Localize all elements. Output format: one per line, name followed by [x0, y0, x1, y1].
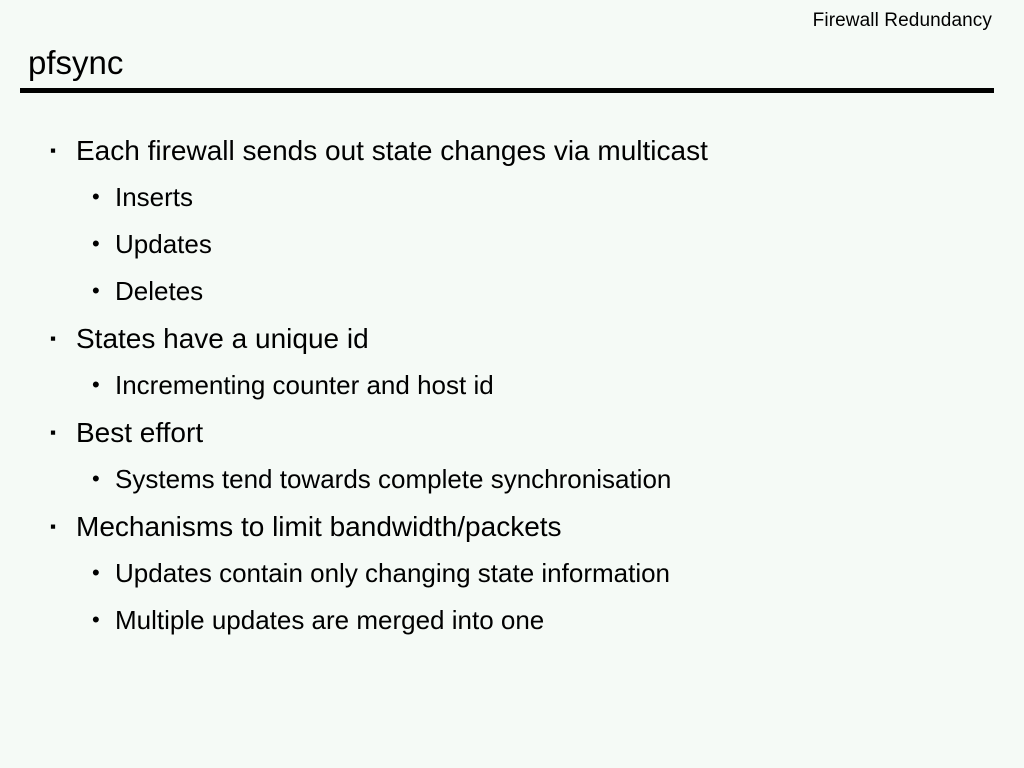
bullet-item-level1: ▪Each firewall sends out state changes v… [0, 134, 1024, 181]
bullet-item-level1: ▪Best effort [0, 416, 1024, 463]
dot-bullet-icon: • [92, 463, 115, 495]
bullet-item-level2: •Multiple updates are merged into one [0, 604, 1024, 651]
dot-bullet-icon: • [92, 604, 115, 636]
bullet-item-level1: ▪States have a unique id [0, 322, 1024, 369]
bullet-text: Inserts [115, 181, 193, 213]
square-bullet-icon: ▪ [50, 416, 76, 450]
bullet-text: Deletes [115, 275, 203, 307]
bullet-text: Best effort [76, 416, 203, 450]
dot-bullet-icon: • [92, 228, 115, 260]
bullet-text: Updates [115, 228, 212, 260]
bullet-item-level2: •Incrementing counter and host id [0, 369, 1024, 416]
bullet-item-level2: •Deletes [0, 275, 1024, 322]
bullet-text: Incrementing counter and host id [115, 369, 494, 401]
bullet-item-level2: •Systems tend towards complete synchroni… [0, 463, 1024, 510]
title-divider [20, 88, 994, 93]
bullet-item-level2: •Updates [0, 228, 1024, 275]
bullet-item-level2: •Inserts [0, 181, 1024, 228]
bullet-text: Each firewall sends out state changes vi… [76, 134, 708, 168]
bullet-item-level2: •Updates contain only changing state inf… [0, 557, 1024, 604]
dot-bullet-icon: • [92, 181, 115, 213]
bullet-item-level1: ▪Mechanisms to limit bandwidth/packets [0, 510, 1024, 557]
square-bullet-icon: ▪ [50, 134, 76, 168]
bullet-text: Multiple updates are merged into one [115, 604, 544, 636]
bullet-text: Mechanisms to limit bandwidth/packets [76, 510, 562, 544]
bullet-text: States have a unique id [76, 322, 369, 356]
slide: Firewall Redundancy pfsync ▪Each firewal… [0, 0, 1024, 768]
square-bullet-icon: ▪ [50, 322, 76, 356]
page-title: pfsync [28, 44, 123, 82]
slide-header-label: Firewall Redundancy [813, 10, 992, 32]
bullet-text: Systems tend towards complete synchronis… [115, 463, 671, 495]
bullet-list: ▪Each firewall sends out state changes v… [0, 134, 1024, 651]
bullet-text: Updates contain only changing state info… [115, 557, 670, 589]
dot-bullet-icon: • [92, 275, 115, 307]
dot-bullet-icon: • [92, 557, 115, 589]
square-bullet-icon: ▪ [50, 510, 76, 544]
dot-bullet-icon: • [92, 369, 115, 401]
